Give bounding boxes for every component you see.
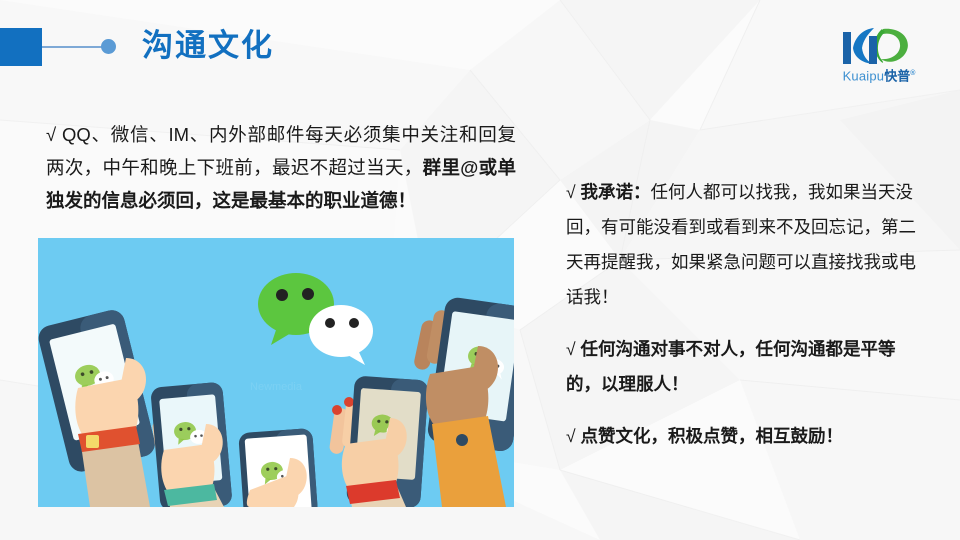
logo-registered-mark: ® bbox=[910, 70, 915, 77]
header-connector-dot bbox=[101, 39, 116, 54]
logo-wordmark: Kuaipu快普® bbox=[823, 66, 935, 84]
svg-text:Newmedia: Newmedia bbox=[250, 381, 303, 393]
header-connector-line bbox=[42, 46, 105, 48]
page-title: 沟通文化 bbox=[142, 26, 274, 66]
header-accent-square bbox=[0, 28, 42, 66]
checkmark-icon: √ bbox=[566, 426, 576, 446]
checkmark-icon: √ bbox=[566, 182, 576, 202]
commitment-label: 我承诺： bbox=[576, 182, 651, 202]
wechat-hands-illustration: Newmedia bbox=[38, 238, 514, 507]
slide-canvas: 沟通文化 Kuaipu快普® √ QQ、微信、IM、内外部邮件每天必须集中关注和… bbox=[0, 0, 960, 540]
logo-name-cn: 快普 bbox=[884, 68, 910, 83]
equality-text: 任何沟通对事不对人，任何沟通都是平等的，以理服人！ bbox=[566, 339, 895, 394]
commitment-paragraph: √ 我承诺：任何人都可以找我，我如果当天没回，有可能没看到或看到来不及回忘记，第… bbox=[566, 175, 918, 315]
left-text-block: √ QQ、微信、IM、内外部邮件每天必须集中关注和回复两次，中午和晚上下班前，最… bbox=[46, 118, 516, 217]
company-logo: Kuaipu快普® bbox=[823, 26, 935, 84]
checkmark-icon: √ bbox=[46, 124, 56, 145]
equality-paragraph: √ 任何沟通对事不对人，任何沟通都是平等的，以理服人！ bbox=[566, 332, 918, 402]
logo-name-en: Kuaipu bbox=[843, 68, 885, 83]
communication-rule-paragraph: √ QQ、微信、IM、内外部邮件每天必须集中关注和回复两次，中午和晚上下班前，最… bbox=[46, 118, 516, 217]
right-text-block: √ 我承诺：任何人都可以找我，我如果当天没回，有可能没看到或看到来不及回忘记，第… bbox=[566, 175, 918, 454]
praise-culture-text: 点赞文化，积极点赞，相互鼓励！ bbox=[576, 426, 843, 446]
checkmark-icon: √ bbox=[566, 339, 576, 359]
praise-culture-paragraph: √ 点赞文化，积极点赞，相互鼓励！ bbox=[566, 419, 918, 454]
kuaipu-logo-icon bbox=[841, 26, 913, 66]
